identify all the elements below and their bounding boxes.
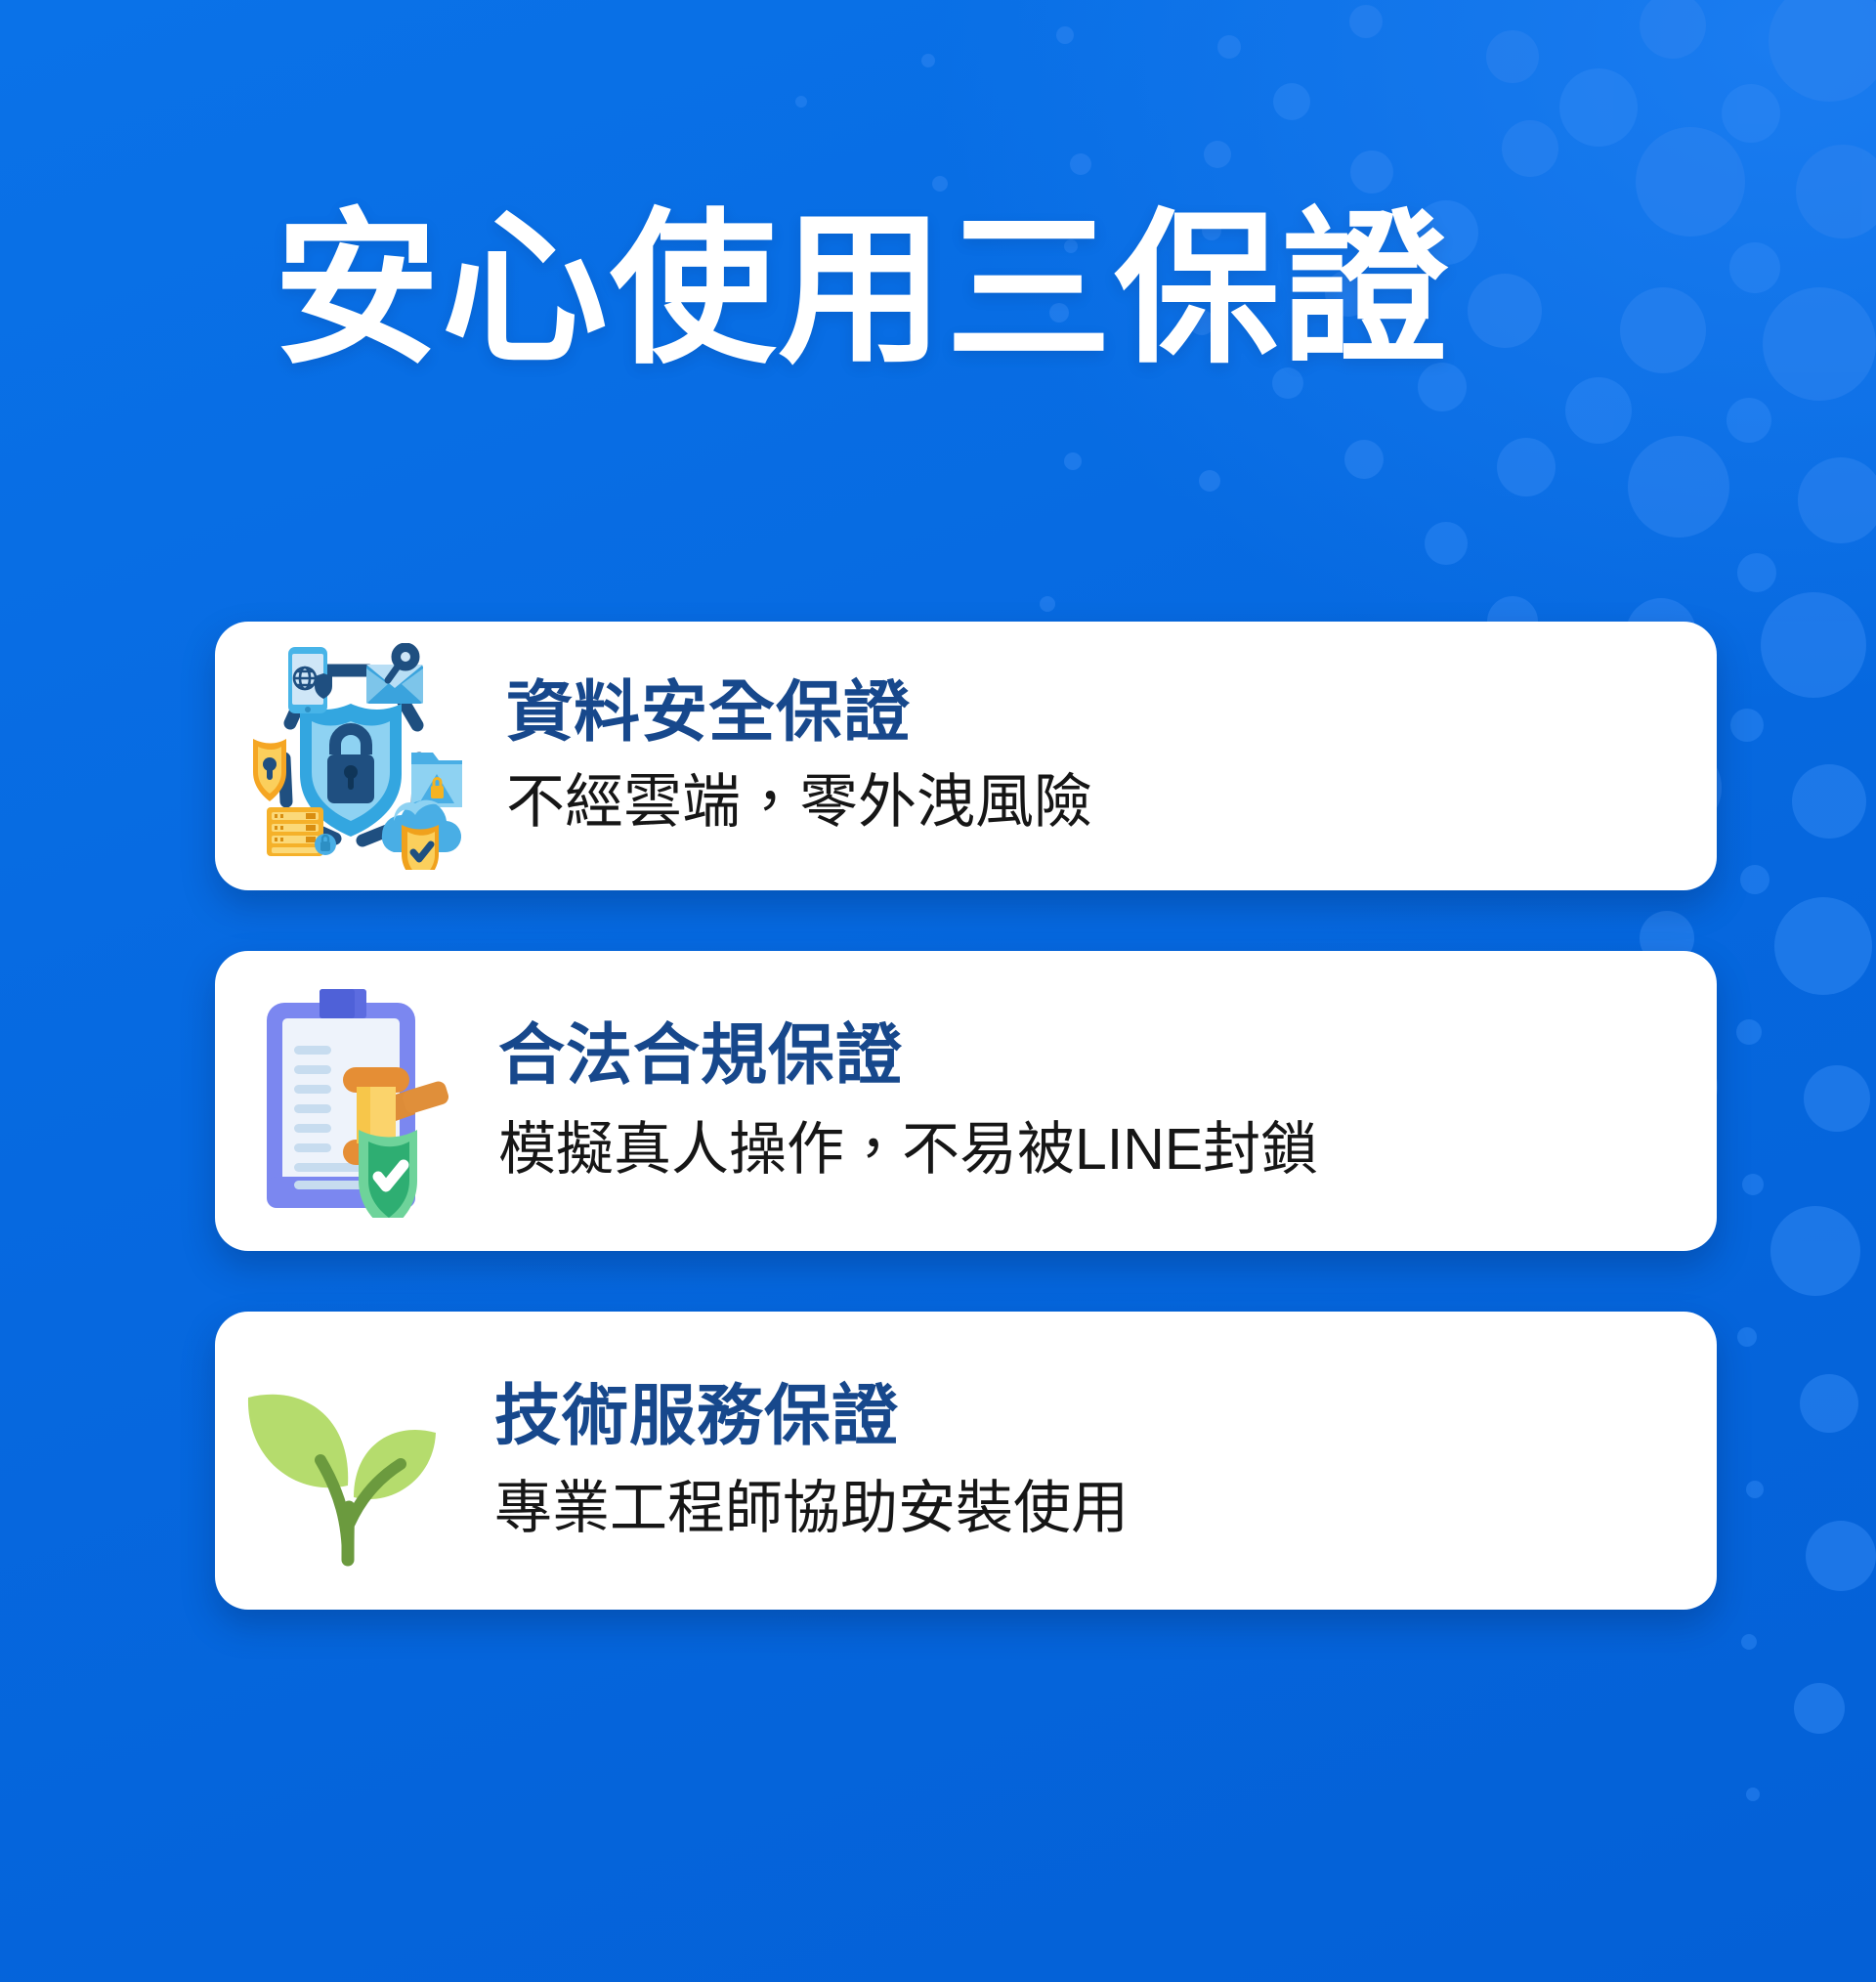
guarantee-card-data-security[interactable]: 資料安全保證 不經雲端，零外洩風險 <box>215 622 1717 890</box>
card-description: 專業工程師協助安裝使用 <box>494 1476 1717 1540</box>
card-heading: 合法合規保證 <box>498 1020 1717 1092</box>
card-text-block: 技術服務保證 專業工程師協助安裝使用 <box>467 1381 1717 1541</box>
technical-service-sprout-icon <box>223 1312 467 1610</box>
guarantee-card-technical-service[interactable]: 技術服務保證 專業工程師協助安裝使用 <box>215 1312 1717 1610</box>
card-text-block: 合法合規保證 模擬真人操作，不易被LINE封鎖 <box>477 1020 1717 1183</box>
data-security-network-icon <box>233 622 477 890</box>
guarantee-card-list: 資料安全保證 不經雲端，零外洩風險 <box>215 622 1717 1610</box>
guarantee-card-legal-compliance[interactable]: 合法合規保證 模擬真人操作，不易被LINE封鎖 <box>215 951 1717 1251</box>
card-description: 不經雲端，零外洩風險 <box>506 769 1717 835</box>
card-description: 模擬真人操作，不易被LINE封鎖 <box>498 1117 1717 1182</box>
page-title: 安心使用三保證 <box>274 207 1641 373</box>
legal-compliance-clipboard-gavel-icon <box>233 951 477 1251</box>
card-text-block: 資料安全保證 不經雲端，零外洩風險 <box>477 677 1717 835</box>
card-heading: 資料安全保證 <box>506 677 1717 749</box>
card-heading: 技術服務保證 <box>494 1381 1717 1452</box>
